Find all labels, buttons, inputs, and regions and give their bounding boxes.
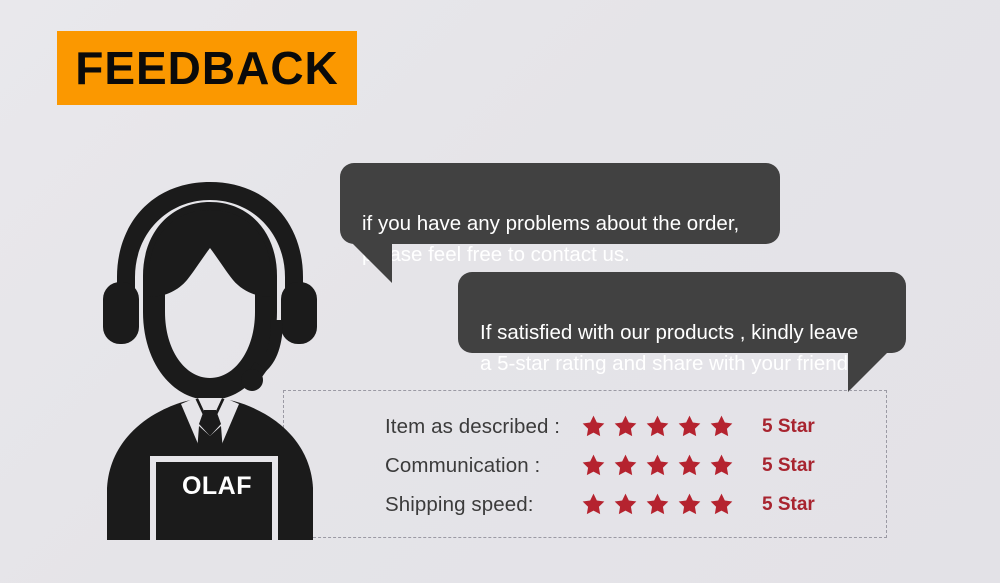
star-icon bbox=[613, 492, 638, 517]
rating-row-shipping-speed: Shipping speed: 5 Star bbox=[385, 485, 845, 524]
rating-label: Item as described : bbox=[385, 415, 581, 439]
rating-label: Shipping speed: bbox=[385, 493, 581, 517]
ratings-list: Item as described : 5 Star Communication… bbox=[385, 407, 845, 524]
star-icon bbox=[581, 453, 606, 478]
star-icon bbox=[645, 453, 670, 478]
star-icon bbox=[709, 414, 734, 439]
rating-stars bbox=[581, 414, 749, 439]
feedback-banner: FEEDBACK bbox=[57, 31, 357, 105]
star-icon bbox=[581, 414, 606, 439]
star-icon bbox=[709, 453, 734, 478]
speech-bubble-rating-request-text: If satisfied with our products , kindly … bbox=[480, 321, 864, 375]
rating-row-item-as-described: Item as described : 5 Star bbox=[385, 407, 845, 446]
speech-bubble-rating-request-tail bbox=[848, 352, 892, 392]
star-icon bbox=[677, 492, 702, 517]
speech-bubble-rating-request: If satisfied with our products , kindly … bbox=[458, 272, 906, 353]
star-icon bbox=[581, 492, 606, 517]
star-icon bbox=[677, 414, 702, 439]
rating-stars bbox=[581, 492, 749, 517]
star-icon bbox=[677, 453, 702, 478]
speech-bubble-order-help: if you have any problems about the order… bbox=[340, 163, 780, 244]
speech-bubble-order-help-tail bbox=[348, 243, 392, 283]
feedback-banner-label: FEEDBACK bbox=[75, 45, 339, 91]
star-icon bbox=[613, 453, 638, 478]
speech-bubble-order-help-text: if you have any problems about the order… bbox=[362, 212, 739, 266]
star-icon bbox=[613, 414, 638, 439]
customer-service-agent-icon bbox=[95, 172, 325, 540]
star-icon bbox=[645, 492, 670, 517]
feedback-banner-graphic: FEEDBACK if you have any problems about … bbox=[0, 0, 1000, 583]
star-icon bbox=[645, 414, 670, 439]
rating-value: 5 Star bbox=[749, 416, 815, 438]
rating-label: Communication : bbox=[385, 454, 581, 478]
rating-value: 5 Star bbox=[749, 494, 815, 516]
rating-row-communication: Communication : 5 Star bbox=[385, 446, 845, 485]
rating-stars bbox=[581, 453, 749, 478]
rating-value: 5 Star bbox=[749, 455, 815, 477]
star-icon bbox=[709, 492, 734, 517]
